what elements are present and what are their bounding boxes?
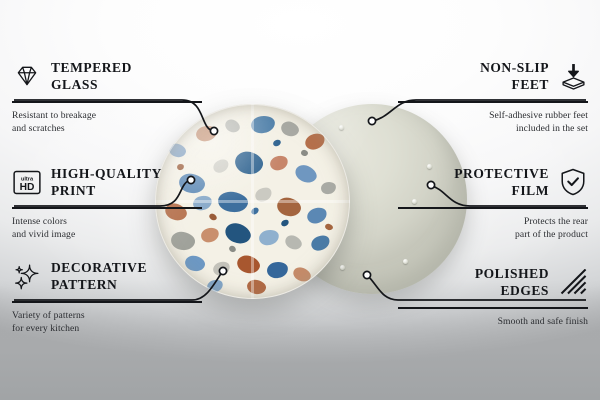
ultra-hd-icon: ultra HD [12,167,42,197]
press-down-pad-icon [558,61,588,91]
diamond-icon [12,61,42,91]
title-rule [12,101,202,103]
callout-dot-non-slip-feet [368,117,375,124]
feature-protective-film: PROTECTIVEFILM Protects the rearpart of … [398,162,588,242]
feature-title: HIGH-QUALITYPRINT [51,165,162,199]
callout-dot-decorative-pattern [219,267,226,274]
sparkles-icon [12,261,42,291]
feature-description: Resistant to breakageand scratches [12,109,202,136]
title-rule [12,301,202,303]
callout-dot-polished-edges [363,271,370,278]
feature-high-quality-print: ultra HD HIGH-QUALITYPRINT Intense color… [12,162,202,242]
title-rule [398,307,588,309]
feature-title: POLISHEDEDGES [475,265,549,299]
shield-check-icon [558,167,588,197]
callout-dot-tempered-glass [210,127,217,134]
feature-title: NON-SLIPFEET [480,59,549,93]
infographic-canvas: TEMPEREDGLASS Resistant to breakageand s… [0,0,600,400]
feature-description: Intense colorsand vivid image [12,215,202,242]
feature-description: Variety of patternsfor every kitchen [12,309,202,336]
diagonal-lines-icon [558,267,588,297]
feature-non-slip-feet: NON-SLIPFEET Self-adhesive rubber feetin… [398,56,588,136]
feature-decorative-pattern: DECORATIVEPATTERN Variety of patternsfor… [12,256,202,336]
feature-description: Self-adhesive rubber feetincluded in the… [398,109,588,136]
title-rule [398,207,588,209]
feature-polished-edges: POLISHEDEDGES Smooth and safe finish [398,262,588,328]
feature-description: Smooth and safe finish [398,315,588,329]
title-rule [12,207,202,209]
title-rule [398,101,588,103]
svg-text:HD: HD [20,181,35,192]
feature-title: TEMPEREDGLASS [51,59,132,93]
feature-title: PROTECTIVEFILM [454,165,549,199]
feature-description: Protects the rearpart of the product [398,215,588,242]
feature-title: DECORATIVEPATTERN [51,259,147,293]
feature-tempered-glass: TEMPEREDGLASS Resistant to breakageand s… [12,56,202,136]
